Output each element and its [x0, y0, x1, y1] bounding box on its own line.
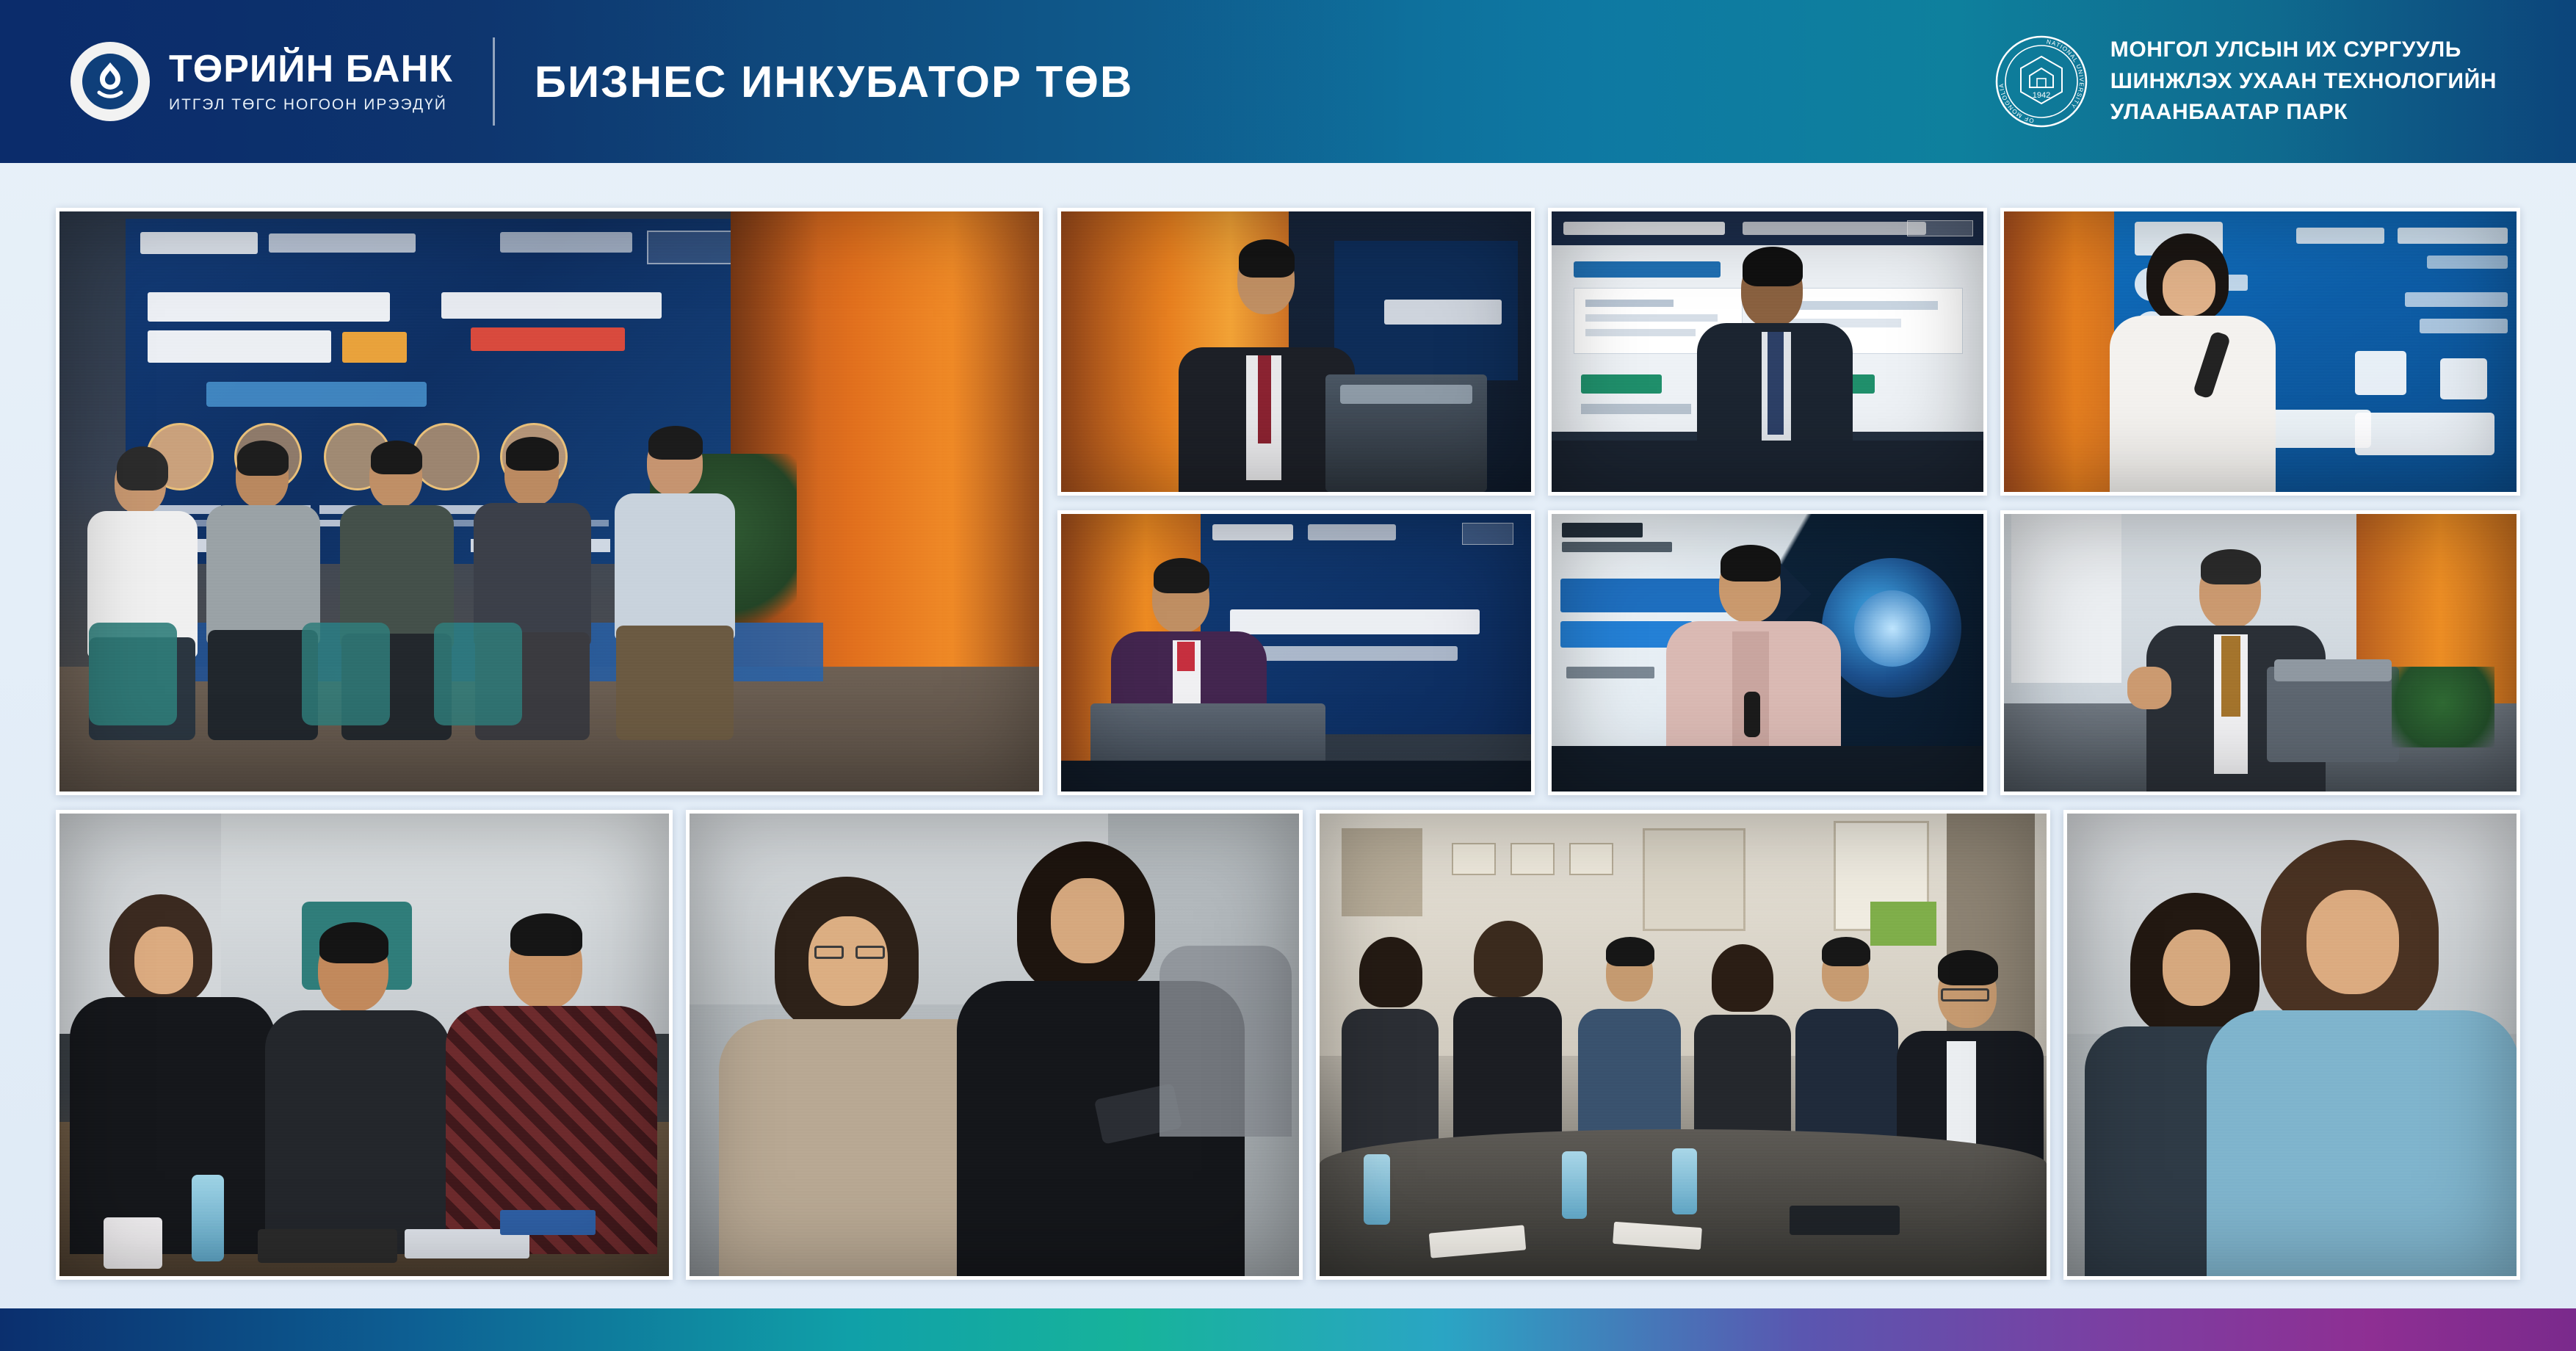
audience-portrait [2063, 810, 2520, 1280]
university-line-3: УЛААНБААТАР ПАРК [2110, 97, 2497, 128]
ai-agent-builder-talk [1548, 510, 1987, 795]
bank-tagline: ИТГЭЛ ТӨГС НОГООН ИРЭЭДҮЙ [169, 96, 453, 114]
bank-name: ТӨРИЙН БАНК [169, 49, 453, 90]
photo-vignette [59, 211, 1039, 792]
footer-gradient-bar [0, 1308, 2576, 1351]
svg-text:1942: 1942 [2032, 91, 2049, 100]
page-header: ТӨРИЙН БАНК ИТГЭЛ ТӨГС НОГООН ИРЭЭДҮЙ БИ… [0, 0, 2576, 163]
speaker-gesturing [2000, 510, 2520, 795]
university-line-2: ШИНЖЛЭХ УХААН ТЕХНОЛОГИЙН [2110, 66, 2497, 98]
header-divider [493, 37, 495, 126]
panel-discussion-stage [56, 208, 1043, 795]
bank-flame-logo-icon [70, 42, 150, 121]
university-branding: 1942 NATIONAL UNIVERSITY OF MONGOLIA МОН… [1994, 35, 2497, 128]
roundtable-meeting [1316, 810, 2050, 1280]
university-seal-icon: 1942 NATIONAL UNIVERSITY OF MONGOLIA [1994, 35, 2088, 128]
speaker-at-podium [1057, 208, 1535, 496]
bank-logo: ТӨРИЙН БАНК ИТГЭЛ ТӨГС НОГООН ИРЭЭДҮЙ [70, 42, 453, 121]
university-line-1: МОНГОЛ УЛСЫН ИХ СУРГУУЛЬ [2110, 35, 2497, 66]
page-title: БИЗНЕС ИНКУБАТОР ТӨВ [535, 57, 1133, 107]
presenter-with-dashboard [1548, 208, 1987, 496]
forum-opening-speech [1057, 510, 1535, 795]
photo-gallery [56, 208, 2520, 1280]
poster-page: ТӨРИЙН БАНК ИТГЭЛ ТӨГС НОГООН ИРЭЭДҮЙ БИ… [0, 0, 2576, 1351]
woman-presenter-statistics [2000, 208, 2520, 496]
audience-at-table-left [56, 810, 673, 1280]
audience-women-listening [686, 810, 1303, 1280]
